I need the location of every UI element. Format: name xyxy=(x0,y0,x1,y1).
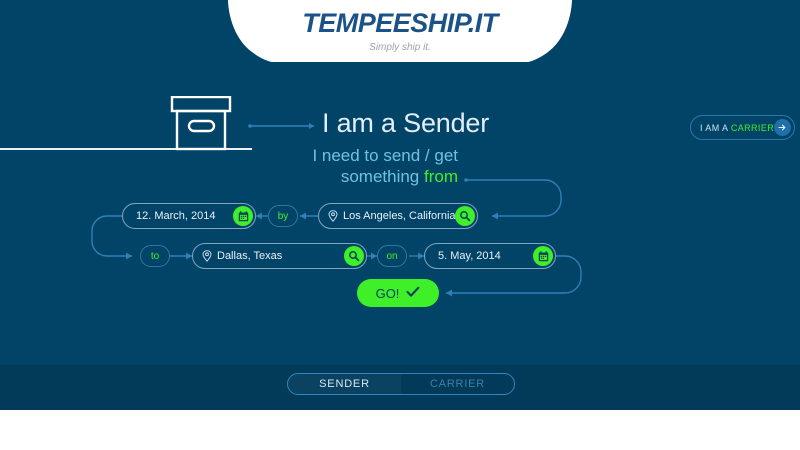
departure-date-input[interactable]: 12. March, 2014 xyxy=(122,203,256,229)
carrier-button-label: I AM A CARRIER xyxy=(700,123,774,133)
carrier-label-plain: I AM A xyxy=(700,123,731,133)
subtitle-line-2-plain: something xyxy=(341,167,424,186)
calendar-icon[interactable] xyxy=(533,246,553,266)
connector-by-label: by xyxy=(278,211,289,222)
role-toggle-sender[interactable]: SENDER xyxy=(288,374,401,394)
go-submit-button[interactable]: GO! xyxy=(357,279,439,307)
role-toggle-sender-label: SENDER xyxy=(319,378,370,390)
subtitle-line-2-highlight: from xyxy=(424,167,458,186)
connector-by-pill[interactable]: by xyxy=(268,205,298,227)
carrier-label-highlight: CARRIER xyxy=(731,123,774,133)
search-icon[interactable] xyxy=(344,246,364,266)
connector-to-pill[interactable]: to xyxy=(140,245,170,267)
subtitle-line-1: I need to send / get xyxy=(312,146,458,165)
arrival-date-input[interactable]: 5. May, 2014 xyxy=(424,243,556,269)
check-icon xyxy=(406,286,420,301)
role-toggle-carrier-label: CARRIER xyxy=(430,378,485,390)
location-pin-icon xyxy=(202,250,212,262)
role-toggle[interactable]: SENDER CARRIER xyxy=(287,373,515,395)
page-subtitle: I need to send / get something from xyxy=(250,145,458,187)
page-title: I am a Sender xyxy=(322,108,489,139)
main-stage: I am a Sender I need to send / get somet… xyxy=(0,0,800,365)
calendar-icon[interactable] xyxy=(233,206,253,226)
role-toggle-carrier[interactable]: CARRIER xyxy=(401,374,514,394)
page-root: I am a Sender I need to send / get somet… xyxy=(0,0,800,450)
go-button-label: GO! xyxy=(376,286,400,301)
connector-on-pill[interactable]: on xyxy=(377,245,407,267)
i-am-a-carrier-button[interactable]: I AM A CARRIER xyxy=(690,115,795,140)
page-bottom-white xyxy=(0,410,800,450)
search-icon[interactable] xyxy=(455,206,475,226)
connector-to-label: to xyxy=(151,251,159,262)
connector-on-label: on xyxy=(386,251,397,262)
arrow-right-icon[interactable] xyxy=(774,119,791,136)
location-pin-icon xyxy=(328,210,338,222)
origin-city-input[interactable]: Los Angeles, California xyxy=(318,203,478,229)
destination-city-input[interactable]: Dallas, Texas xyxy=(192,243,367,269)
ground-line xyxy=(0,148,252,150)
